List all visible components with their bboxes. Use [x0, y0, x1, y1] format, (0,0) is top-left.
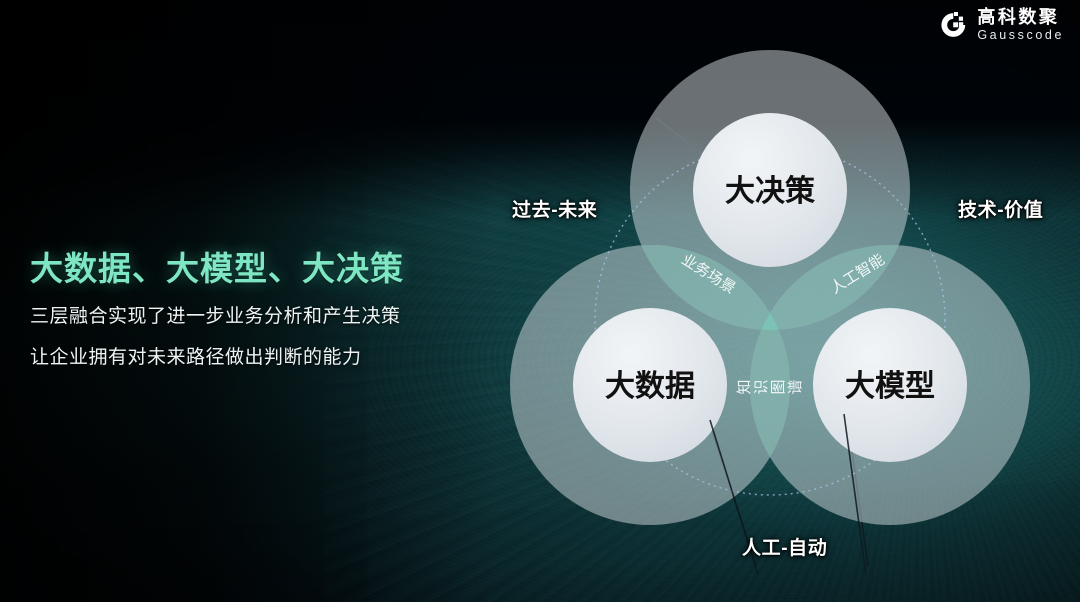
venn-diagram: 大决策 大数据 大模型 业务场景 人工智能 知识图谱 [460, 10, 1080, 590]
outer-label-tech-value: 技术-价值 [958, 195, 1043, 222]
outer-label-past-future: 过去-未来 [512, 195, 597, 222]
subtitle-line-2: 让企业拥有对未来路径做出判断的能力 [30, 348, 500, 367]
left-text-block: 大数据、大模型、大决策 三层融合实现了进一步业务分析和产生决策 让企业拥有对未来… [30, 250, 500, 367]
subtitle-line-1: 三层融合实现了进一步业务分析和产生决策 [30, 307, 500, 326]
venn-label-left: 大数据 [605, 370, 695, 403]
venn-label-knowledge-graph: 知识图谱 [736, 380, 804, 397]
venn-label-top: 大决策 [725, 174, 815, 208]
venn-label-right: 大模型 [845, 370, 935, 403]
page-title: 大数据、大模型、大决策 [30, 250, 500, 289]
outer-label-manual-auto: 人工-自动 [742, 533, 827, 560]
slide-canvas: 高科数聚 Gausscode 大数据、大模型、大决策 三层融合实现了进一步业务分… [0, 0, 1080, 602]
